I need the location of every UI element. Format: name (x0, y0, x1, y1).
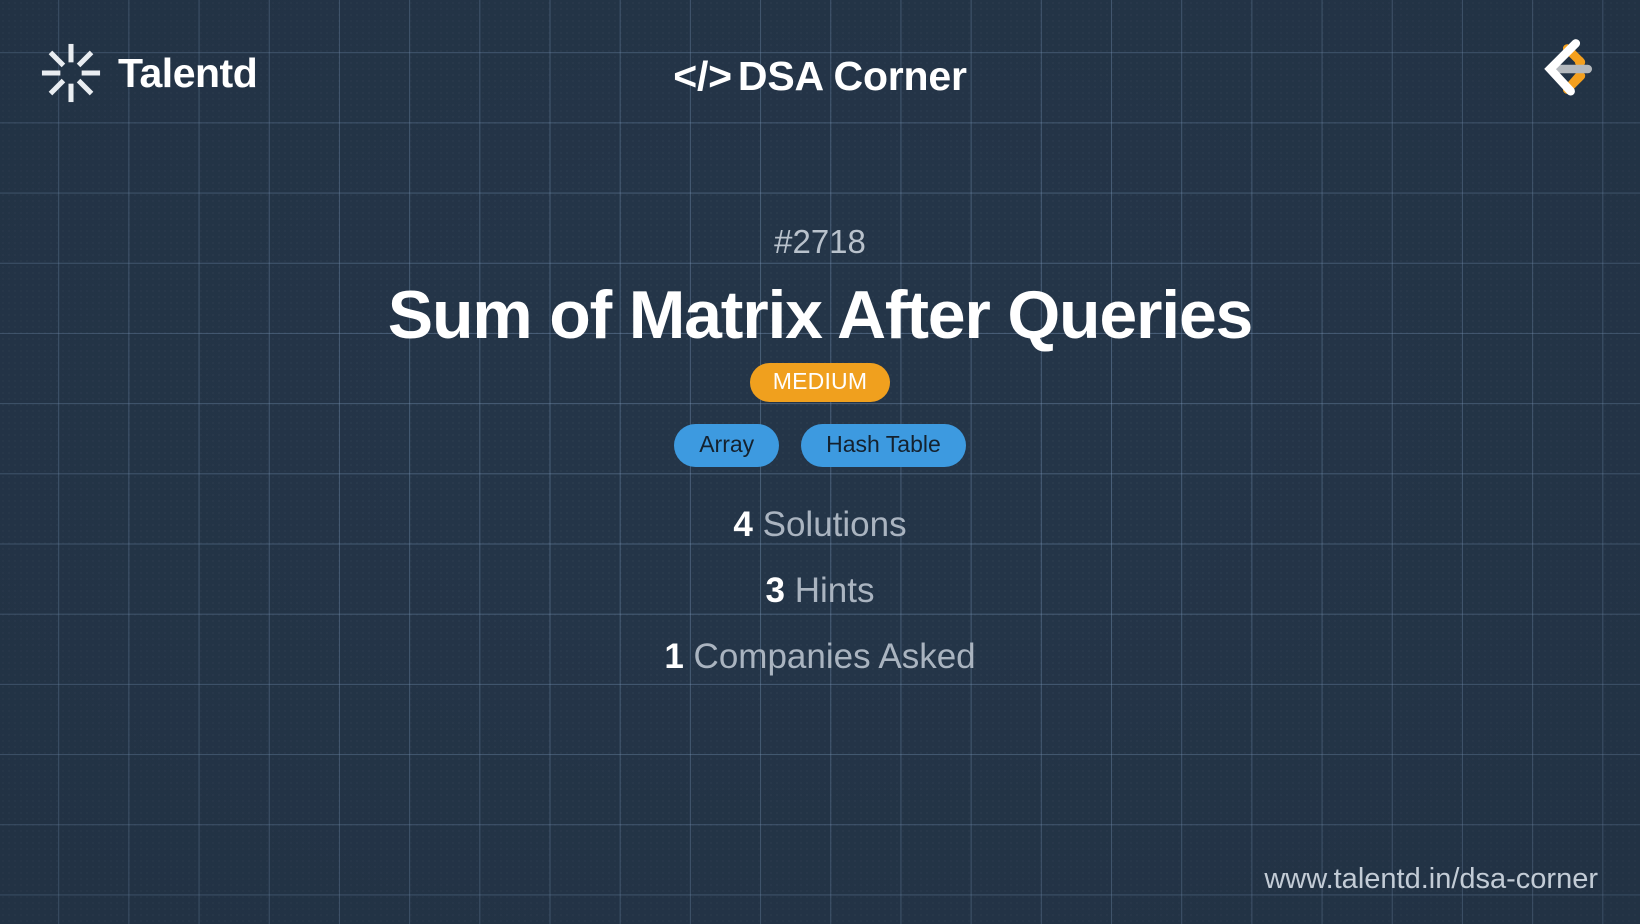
stats-list: 4 Solutions 3 Hints 1 Companies Asked (0, 507, 1640, 674)
problem-number: #2718 (0, 225, 1640, 258)
leetcode-logo-icon (1516, 28, 1598, 110)
problem-card: #2718 Sum of Matrix After Queries MEDIUM… (0, 225, 1640, 705)
stat-hints-value: 3 (766, 571, 785, 610)
footer-url[interactable]: www.talentd.in/dsa-corner (1264, 865, 1598, 894)
difficulty-row: MEDIUM (0, 363, 1640, 402)
tag-list: Array Hash Table (0, 424, 1640, 467)
problem-title: Sum of Matrix After Queries (0, 280, 1640, 351)
stat-solutions-value: 4 (733, 505, 752, 544)
page-title: </>DSA Corner (0, 53, 1640, 100)
stat-hints: 3 Hints (0, 573, 1640, 608)
dsa-corner-poster: Talentd </>DSA Corner #2718 Sum of Matri… (0, 0, 1640, 924)
stat-solutions-label: Solutions (763, 505, 907, 544)
stat-solutions: 4 Solutions (0, 507, 1640, 542)
stat-hints-label: Hints (795, 571, 875, 610)
tag-pill-hash-table[interactable]: Hash Table (801, 424, 966, 467)
stat-companies: 1 Companies Asked (0, 639, 1640, 674)
code-tag-icon: </> (673, 53, 732, 99)
page-title-text: DSA Corner (738, 53, 967, 99)
stat-companies-label: Companies Asked (694, 637, 976, 676)
stat-companies-value: 1 (664, 637, 683, 676)
header-bar: Talentd </>DSA Corner (0, 0, 1640, 150)
tag-pill-array[interactable]: Array (674, 424, 779, 467)
status-badge: MEDIUM (750, 363, 890, 402)
